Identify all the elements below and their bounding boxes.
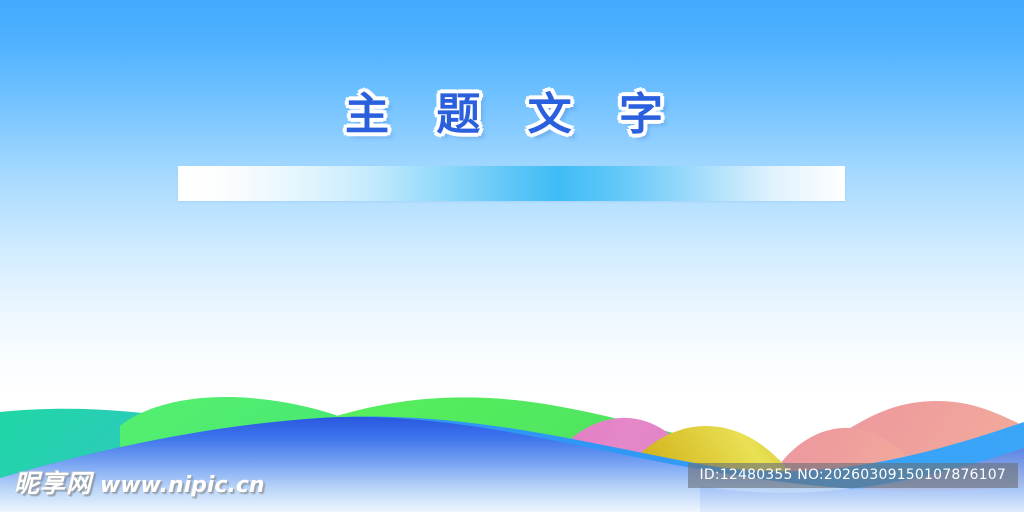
page-title: 主 题 文 字 xyxy=(0,78,1024,142)
decorative-wave-graphic xyxy=(0,382,1024,512)
poster-canvas: 主 题 文 字 xyxy=(0,0,1024,512)
page-title-text: 主 题 文 字 xyxy=(345,78,679,142)
accent-gradient-bar xyxy=(178,166,845,201)
